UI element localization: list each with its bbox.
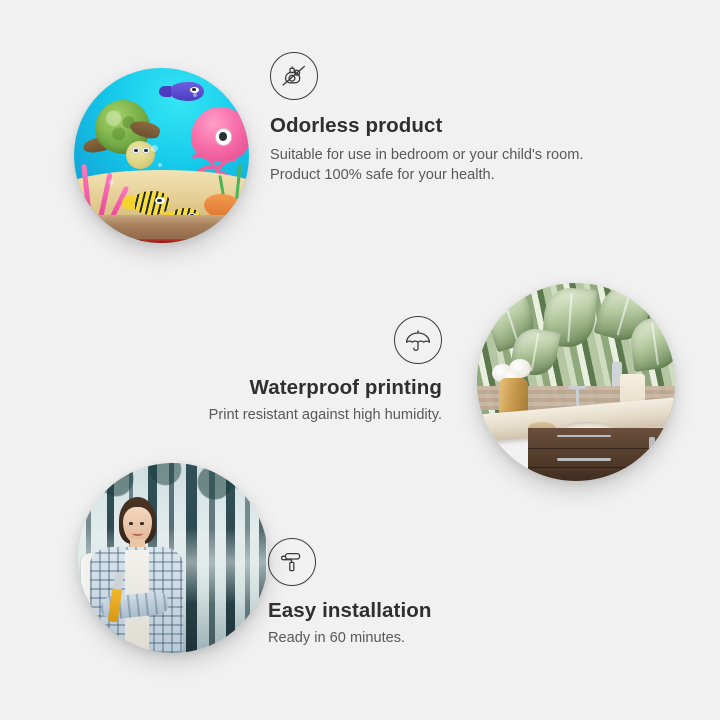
octopus-head: [191, 107, 249, 162]
paint-roller-icon: [268, 538, 316, 586]
feature-title: Easy installation: [268, 599, 431, 623]
feature-title: Odorless product: [270, 114, 600, 138]
wood-vanity-cabinet: [528, 428, 675, 481]
feature-waterproof-printing: Waterproof printing Print resistant agai…: [209, 316, 442, 426]
drawer-handle: [557, 458, 611, 460]
feature-description: Print resistant against high humidity.: [209, 406, 442, 426]
bed-in-room: [113, 239, 208, 243]
yellow-striped-fish: [132, 191, 171, 216]
feature-easy-installation: Easy installation Ready in 60 minutes.: [268, 538, 431, 649]
feature-title: Waterproof printing: [209, 376, 442, 400]
feature-description: Suitable for use in bedroom or your chil…: [270, 146, 600, 185]
fish-tail: [122, 196, 135, 210]
fish-body: [132, 191, 171, 216]
octopus-eye: [215, 128, 233, 146]
feature-description: Ready in 60 minutes.: [268, 629, 431, 649]
underwater-scene: [74, 68, 249, 243]
feature-board: Odorless product Suitable for use in bed…: [0, 0, 720, 720]
medallion-underwater-image[interactable]: [74, 68, 249, 243]
cabinet-handle: [649, 437, 655, 471]
fish-eye: [155, 197, 165, 204]
blue-fish: [169, 82, 204, 101]
bedroom-floor-strip: [74, 215, 249, 243]
woman-eye-right: [140, 522, 144, 525]
turtle-eye-left: [132, 147, 139, 154]
medallion-bathroom-image[interactable]: [477, 283, 675, 481]
no-odor-perfume-bottle-icon: [270, 52, 318, 100]
bathroom-scene: [477, 283, 675, 481]
forest-scene: [78, 463, 268, 653]
medallion-forest-image[interactable]: [78, 463, 268, 653]
turtle-eye-right: [142, 147, 149, 154]
fish-tail: [159, 86, 171, 97]
woman-smile: [132, 531, 143, 536]
woman-with-paint-roller: [86, 497, 196, 653]
umbrella-icon: [394, 316, 442, 364]
lamp-in-room: [221, 240, 233, 243]
fish-eye: [190, 87, 199, 93]
drawer-handle: [557, 435, 611, 437]
woman-eye-left: [129, 522, 133, 525]
feature-odorless-product: Odorless product Suitable for use in bed…: [270, 52, 600, 185]
